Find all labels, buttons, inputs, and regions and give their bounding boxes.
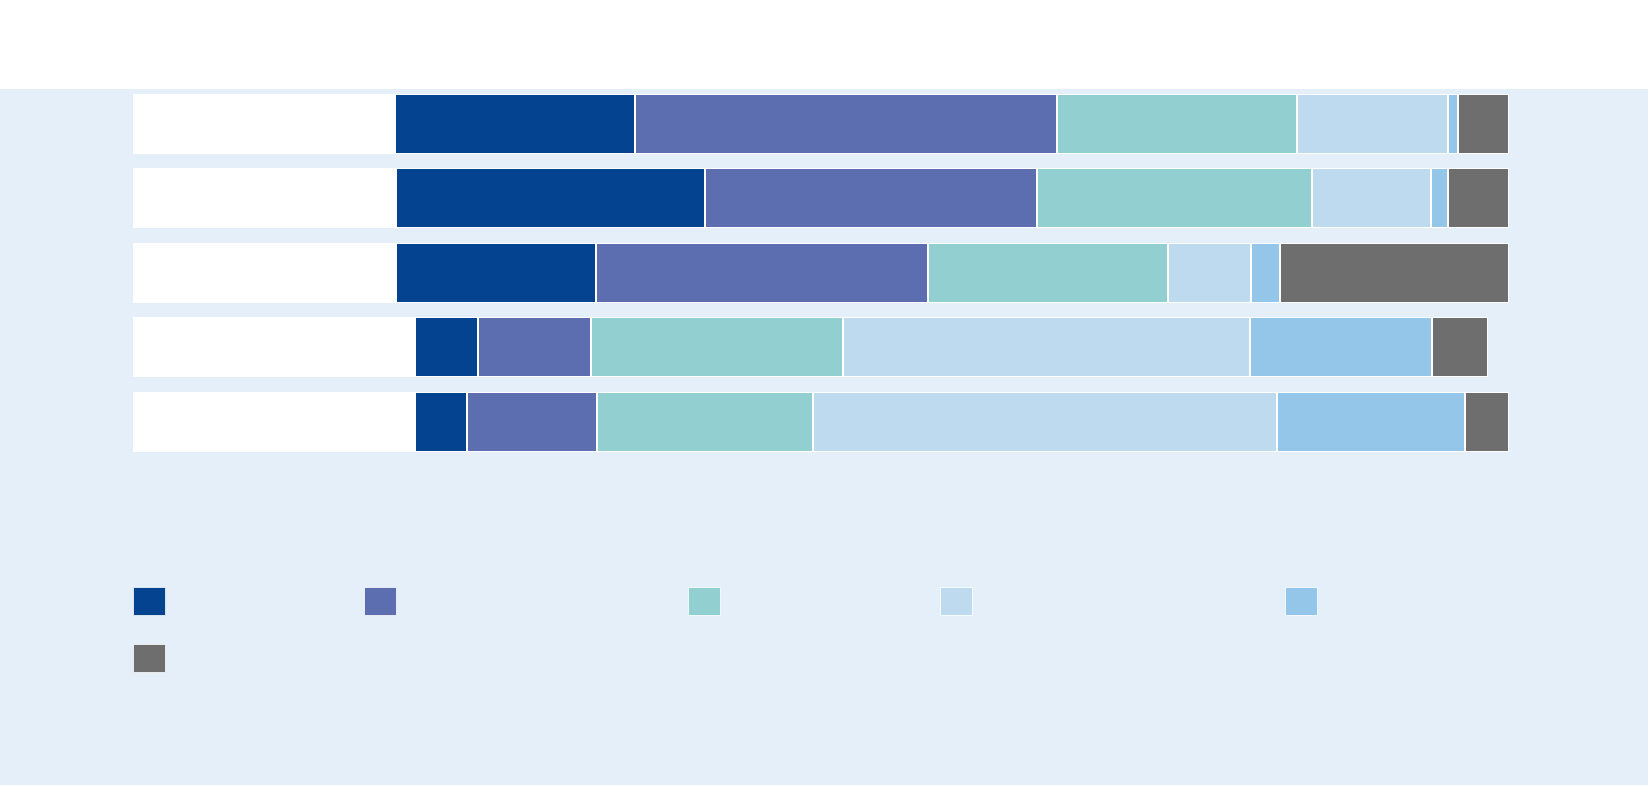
- bar-segment[interactable]: [597, 392, 813, 452]
- legend-swatch: [133, 644, 166, 673]
- bar-segment[interactable]: [1168, 243, 1251, 303]
- legend-swatch: [133, 587, 166, 616]
- bar-segment[interactable]: [396, 243, 596, 303]
- bar-row[interactable]: [133, 243, 1509, 303]
- legend-swatch: [940, 587, 973, 616]
- legend-item[interactable]: [940, 586, 983, 616]
- bar-segment[interactable]: [596, 243, 928, 303]
- bar-segment[interactable]: [1280, 243, 1509, 303]
- legend-item[interactable]: [364, 586, 407, 616]
- legend-item[interactable]: [1285, 586, 1328, 616]
- bar-segment[interactable]: [467, 392, 597, 452]
- chart-root: [0, 0, 1648, 785]
- bar-segment-blank[interactable]: [133, 392, 415, 452]
- legend-swatch: [688, 587, 721, 616]
- bar-segment[interactable]: [415, 317, 478, 377]
- bar-segment[interactable]: [1277, 392, 1465, 452]
- bar-segment[interactable]: [478, 317, 591, 377]
- bar-segment[interactable]: [813, 392, 1277, 452]
- legend-swatch: [364, 587, 397, 616]
- bar-row[interactable]: [133, 392, 1509, 452]
- bar-segment[interactable]: [1250, 317, 1432, 377]
- bar-row[interactable]: [133, 317, 1488, 377]
- bar-segment[interactable]: [928, 243, 1168, 303]
- chart-legend: [0, 89, 1648, 209]
- bar-segment[interactable]: [415, 392, 467, 452]
- legend-item[interactable]: [133, 643, 176, 673]
- bar-segment[interactable]: [1465, 392, 1509, 452]
- bar-segment[interactable]: [1251, 243, 1280, 303]
- bar-segment[interactable]: [1432, 317, 1488, 377]
- bar-segment[interactable]: [843, 317, 1250, 377]
- legend-swatch: [1285, 587, 1318, 616]
- bar-segment[interactable]: [591, 317, 843, 377]
- legend-item[interactable]: [133, 586, 176, 616]
- bar-segment-blank[interactable]: [133, 243, 396, 303]
- legend-item[interactable]: [688, 586, 731, 616]
- bar-segment-blank[interactable]: [133, 317, 415, 377]
